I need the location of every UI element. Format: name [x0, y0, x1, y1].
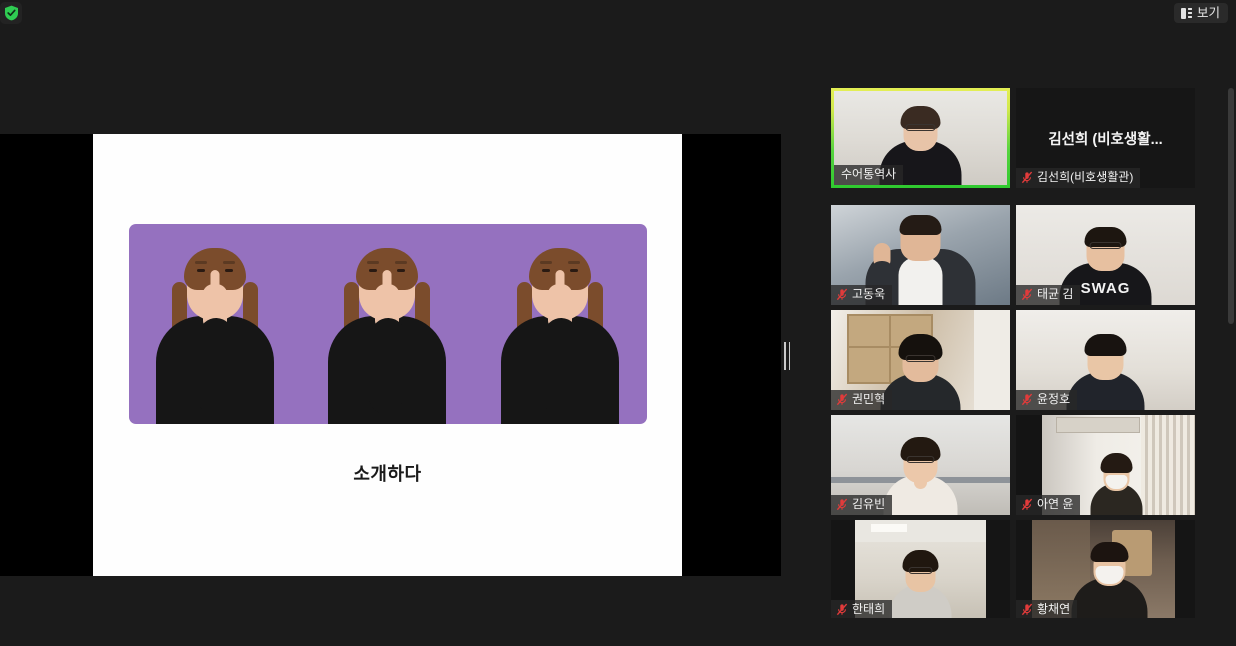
mic-off-icon	[836, 603, 848, 616]
sign-language-photo	[129, 224, 647, 424]
filmstrip-row: 김유빈	[831, 415, 1195, 520]
slide-caption: 소개하다	[353, 460, 421, 486]
security-shield-button[interactable]	[0, 2, 22, 24]
participant-name: 황채연	[1037, 602, 1070, 617]
video-thumbnail: 고동욱	[831, 205, 1010, 305]
participant-tile-kwon-min-hyuk[interactable]: 권민혁	[831, 310, 1010, 410]
scrollbar-thumb[interactable]	[1228, 88, 1234, 324]
mic-off-icon	[1021, 288, 1033, 301]
participant-name-badge: 아연 윤	[1016, 495, 1080, 515]
presentation-slide: 소개하다	[93, 134, 682, 576]
mic-off-icon	[1021, 171, 1033, 184]
participant-name-badge: 한태희	[831, 600, 892, 618]
video-thumbnail: SWAG 태균 김	[1016, 205, 1195, 305]
mic-off-icon	[836, 288, 848, 301]
video-thumbnail: 수어통역사	[834, 91, 1007, 185]
participant-tile-no-video[interactable]: 김선희 (비호생활... 김선희(비호생활관)	[1016, 88, 1195, 188]
video-thumbnail: 권민혁	[831, 310, 1010, 410]
signer-frame-2	[324, 236, 450, 424]
video-thumbnail: 한태희	[831, 520, 1010, 618]
participant-tile-interpreter[interactable]: 수어통역사	[831, 88, 1010, 188]
participant-name: 김유빈	[852, 497, 885, 512]
participant-name-badge: 김유빈	[831, 495, 892, 515]
mic-off-icon	[1021, 603, 1033, 616]
shared-content-stage[interactable]: 소개하다	[0, 134, 781, 576]
signer-frame-3	[497, 236, 623, 424]
signer-frame-1	[152, 236, 278, 424]
participant-tile-han-tae-hee[interactable]: 한태희	[831, 520, 1010, 618]
shield-check-icon	[4, 5, 19, 21]
filmstrip-row: 수어통역사 김선희 (비호생활... 김선희(비호생활관)	[831, 88, 1195, 193]
top-bar: 보기	[0, 0, 1236, 28]
participant-tile-hwang-chae-yeon[interactable]: 황채연	[1016, 520, 1195, 618]
mic-off-icon	[1021, 393, 1033, 406]
participant-tile-kim-yu-bin[interactable]: 김유빈	[831, 415, 1010, 515]
participants-filmstrip[interactable]: 수어통역사 김선희 (비호생활... 김선희(비호생활관)	[831, 88, 1195, 618]
video-thumbnail: 황채연	[1016, 520, 1195, 618]
participant-name-badge: 태균 김	[1016, 285, 1080, 305]
participant-name-badge: 김선희(비호생활관)	[1016, 168, 1140, 188]
filmstrip-row: 고동욱 SWAG	[831, 205, 1195, 310]
participant-name-badge: 수어통역사	[834, 165, 903, 185]
participant-name: 김선희(비호생활관)	[1037, 170, 1133, 185]
participant-tile-go-dong-uk[interactable]: 고동욱	[831, 205, 1010, 305]
participant-name: 태균 김	[1037, 287, 1073, 302]
layout-view-icon	[1181, 8, 1192, 19]
participant-name: 아연 윤	[1037, 497, 1073, 512]
participant-name: 고동욱	[852, 287, 885, 302]
video-thumbnail: 아연 윤	[1016, 415, 1195, 515]
participant-name: 윤정호	[1037, 392, 1070, 407]
participant-display-name: 김선희 (비호생활...	[1042, 128, 1168, 149]
participant-tile-tae-gyun-kim[interactable]: SWAG 태균 김	[1016, 205, 1195, 305]
participant-tile-yoon-jung-ho[interactable]: 윤정호	[1016, 310, 1195, 410]
participant-name-badge: 윤정호	[1016, 390, 1077, 410]
mic-off-icon	[836, 498, 848, 511]
participant-name: 한태희	[852, 602, 885, 617]
participant-tile-ayeon-yoon[interactable]: 아연 윤	[1016, 415, 1195, 515]
mic-off-icon	[1021, 498, 1033, 511]
video-thumbnail: 김유빈	[831, 415, 1010, 515]
panel-resize-handle[interactable]	[783, 340, 791, 372]
mic-off-icon	[836, 393, 848, 406]
participant-name: 수어통역사	[841, 167, 896, 182]
participants-scrollbar[interactable]	[1228, 88, 1234, 618]
participant-name-badge: 황채연	[1016, 600, 1077, 618]
video-thumbnail: 윤정호	[1016, 310, 1195, 410]
view-button-label: 보기	[1197, 3, 1220, 23]
participant-name: 권민혁	[852, 392, 885, 407]
zoom-meeting-window: 보기	[0, 0, 1236, 646]
filmstrip-row: 권민혁	[831, 310, 1195, 415]
view-button[interactable]: 보기	[1174, 3, 1228, 23]
participant-name-badge: 권민혁	[831, 390, 892, 410]
participant-name-badge: 고동욱	[831, 285, 892, 305]
filmstrip-row: 한태희	[831, 520, 1195, 618]
